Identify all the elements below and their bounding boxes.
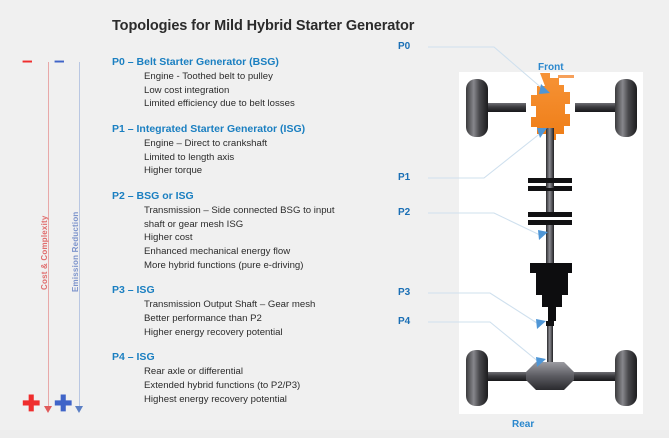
topology-bullets: Engine - Toothed belt to pulley Low cost… xyxy=(112,70,412,111)
list-item: Engine – Direct to crankshaft xyxy=(144,137,412,151)
front-label: Front xyxy=(538,62,564,73)
topology-bullets: Rear axle or differential Extended hybri… xyxy=(112,365,412,406)
rear-differential xyxy=(526,362,574,390)
list-item: Limited efficiency due to belt losses xyxy=(144,97,412,111)
shaft-between-clutches xyxy=(546,183,554,188)
list-item: Limited to length axis xyxy=(144,151,412,165)
list-item: Higher torque xyxy=(144,164,412,178)
leader-line-p3 xyxy=(428,293,540,325)
list-item: Better performance than P2 xyxy=(144,312,412,326)
driveshaft-upper xyxy=(546,128,554,180)
vehicle-schematic-svg xyxy=(390,20,669,438)
front-right-halfshaft xyxy=(575,103,619,112)
powertrain-diagram: P0 P1 P2 P3 P4 Front Rear xyxy=(390,20,669,438)
rear-left-halfshaft xyxy=(484,372,530,381)
cost-axis-label: Cost & Complexity xyxy=(40,215,49,290)
front-left-wheel xyxy=(466,79,488,137)
list-item: Engine - Toothed belt to pulley xyxy=(144,70,412,84)
topology-heading: P0 – Belt Starter Generator (BSG) xyxy=(112,55,412,69)
front-left-halfshaft xyxy=(484,103,526,112)
list-item: Rear axle or differential xyxy=(144,365,412,379)
topology-heading: P4 – ISG xyxy=(112,350,412,364)
emission-plus-sign: ✚ xyxy=(54,393,72,415)
rear-right-wheel xyxy=(615,350,637,406)
list-item: Higher cost xyxy=(144,231,412,245)
list-item: Extended hybrid functions (to P2/P3) xyxy=(144,379,412,393)
callout-label-p3: P3 xyxy=(398,287,410,298)
topology-group-p1: P1 – Integrated Starter Generator (ISG) … xyxy=(112,122,412,178)
topology-group-p4: P4 – ISG Rear axle or differential Exten… xyxy=(112,350,412,406)
callout-label-p2: P2 xyxy=(398,207,410,218)
leader-line-p1 xyxy=(428,132,542,178)
topology-group-p3: P3 – ISG Transmission Output Shaft – Gea… xyxy=(112,283,412,339)
emission-axis-label: Emission Reduction xyxy=(71,212,80,293)
callout-label-p4: P4 xyxy=(398,316,410,327)
front-right-wheel xyxy=(615,79,637,137)
list-item: More hybrid functions (pure e-driving) xyxy=(144,259,412,273)
output-shaft-coupling xyxy=(546,321,554,326)
arrowhead-p3 xyxy=(536,319,546,329)
callout-label-p0: P0 xyxy=(398,41,410,52)
slide-canvas: Topologies for Mild Hybrid Starter Gener… xyxy=(0,0,669,438)
cost-axis-arrowhead xyxy=(44,406,52,413)
list-item: Low cost integration xyxy=(144,84,412,98)
topology-bullets: Engine – Direct to crankshaft Limited to… xyxy=(112,137,412,178)
list-item: Transmission – Side connected BSG to inp… xyxy=(144,204,412,231)
topology-bullets: Transmission Output Shaft – Gear mesh Be… xyxy=(112,298,412,339)
engine-belt-pulley xyxy=(558,75,574,78)
callout-label-p1: P1 xyxy=(398,172,410,183)
topology-heading: P2 – BSG or ISG xyxy=(112,189,412,203)
transmission-housing xyxy=(530,263,572,321)
transmission-input-shaft xyxy=(546,225,554,263)
topology-heading: P3 – ISG xyxy=(112,283,412,297)
cost-plus-sign: ✚ xyxy=(22,393,40,415)
topology-group-p2: P2 – BSG or ISG Transmission – Side conn… xyxy=(112,189,412,272)
list-item: Enhanced mechanical energy flow xyxy=(144,245,412,259)
driveshaft-mid xyxy=(546,191,554,213)
list-item: Higher energy recovery potential xyxy=(144,326,412,340)
leader-line-p2 xyxy=(428,213,542,236)
topology-heading: P1 – Integrated Starter Generator (ISG) xyxy=(112,122,412,136)
topology-list: P0 – Belt Starter Generator (BSG) Engine… xyxy=(112,55,412,417)
emission-axis-arrowhead xyxy=(75,406,83,413)
rear-label: Rear xyxy=(512,419,534,430)
emission-minus-sign: – xyxy=(54,52,65,71)
list-item: Highest energy recovery potential xyxy=(144,393,412,407)
clutch-lower xyxy=(528,212,572,225)
cost-minus-sign: – xyxy=(22,52,33,71)
footer-strip xyxy=(0,430,669,438)
topology-group-p0: P0 – Belt Starter Generator (BSG) Engine… xyxy=(112,55,412,111)
list-item: Transmission Output Shaft – Gear mesh xyxy=(144,298,412,312)
topology-bullets: Transmission – Side connected BSG to inp… xyxy=(112,204,412,272)
rear-right-halfshaft xyxy=(571,372,619,381)
rear-left-wheel xyxy=(466,350,488,406)
